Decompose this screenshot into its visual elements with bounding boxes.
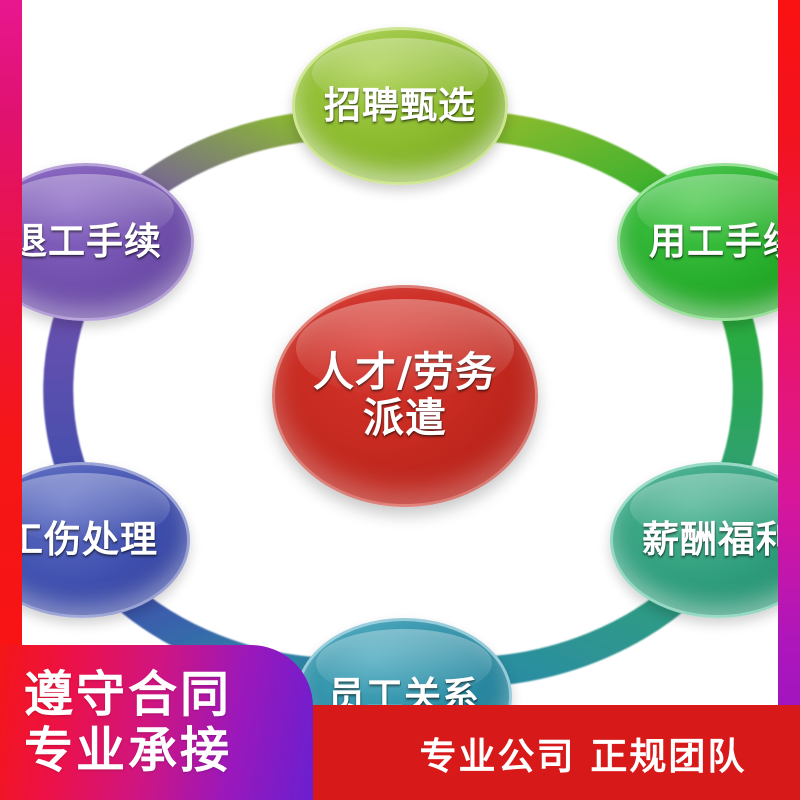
right-edge-strip <box>778 0 800 800</box>
slogan-banner-left: 遵守合同 专业承接 <box>0 645 313 800</box>
node-label: 薪酬福利 <box>642 520 794 560</box>
center-node-label-line2: 派遣 <box>363 394 447 442</box>
center-node-staffing[interactable]: 人才/劳务 派遣 <box>272 285 538 507</box>
slogan-left-line1: 遵守合同 <box>24 667 232 723</box>
node-label: 工伤处理 <box>6 520 158 560</box>
diagram-canvas: 招聘甄选 用工手续 薪酬福利 员工关系 工伤处理 退工手续 人才/劳务 派遣 遵… <box>0 0 800 800</box>
center-node-label: 人才/劳务 派遣 <box>313 350 497 442</box>
slogan-banner-right: 专业公司 正规团队 <box>310 705 800 800</box>
node-label: 退工手续 <box>10 222 162 262</box>
slogan-left-line2: 专业承接 <box>24 723 232 779</box>
node-recruitment[interactable]: 招聘甄选 <box>292 27 508 185</box>
center-node-label-line1: 人才/劳务 <box>313 348 497 396</box>
node-label: 招聘甄选 <box>324 86 476 126</box>
slogan-right-text: 专业公司 正规团队 <box>420 726 747 780</box>
